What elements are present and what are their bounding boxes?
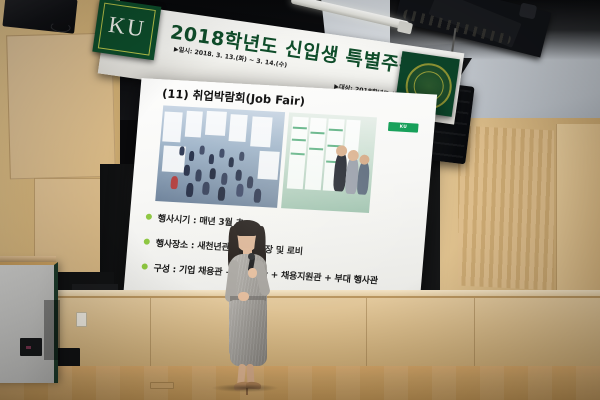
right-wall-panel bbox=[556, 124, 600, 296]
ceiling-light-fixture-icon bbox=[519, 2, 538, 19]
presenter-skirt bbox=[230, 300, 267, 366]
slide-ku-badge: KU bbox=[388, 122, 419, 133]
slide-bullet-item: 행사시기 : 매년 3월 초 bbox=[145, 211, 418, 239]
bullet-dot-icon bbox=[141, 263, 147, 269]
slide-bullet-item: 행사장소 : 새천년관 국제회의장 및 로비 bbox=[143, 235, 416, 263]
microphone-head-icon bbox=[248, 253, 255, 260]
slide-photo-group bbox=[155, 105, 377, 213]
presenter-hand-left bbox=[238, 292, 249, 301]
auditorium-photo: 2018학년도 신입생 특별주간 ▶일시: 2018. 3. 13.(화) ~ … bbox=[0, 0, 600, 400]
slide-photo-jobfair-crowd bbox=[155, 105, 285, 207]
podium-indicator-light bbox=[26, 346, 31, 349]
presenter-floor-shadow bbox=[212, 384, 278, 392]
wall-outlet-icon bbox=[76, 312, 87, 327]
projection-screen: (11) 취업박람회(Job Fair) KU bbox=[123, 78, 437, 316]
podium-shadow bbox=[44, 300, 60, 360]
presenter bbox=[216, 218, 278, 390]
bullet-dot-icon bbox=[146, 214, 152, 220]
right-wall-slats bbox=[458, 125, 554, 290]
floor-access-plate bbox=[150, 382, 174, 389]
ku-logo-plate: KU bbox=[92, 0, 161, 60]
podium-equipment-box bbox=[20, 338, 42, 356]
floor-reflection bbox=[0, 366, 600, 400]
presenter-hand-right bbox=[248, 268, 257, 278]
stage-wall bbox=[0, 296, 600, 370]
slide-photo-students-boards bbox=[281, 112, 377, 213]
bullet-dot-icon bbox=[144, 238, 150, 244]
slide-bullet-list: 행사시기 : 매년 3월 초 행사장소 : 새천년관 국제회의장 및 로비 구성… bbox=[140, 211, 418, 301]
